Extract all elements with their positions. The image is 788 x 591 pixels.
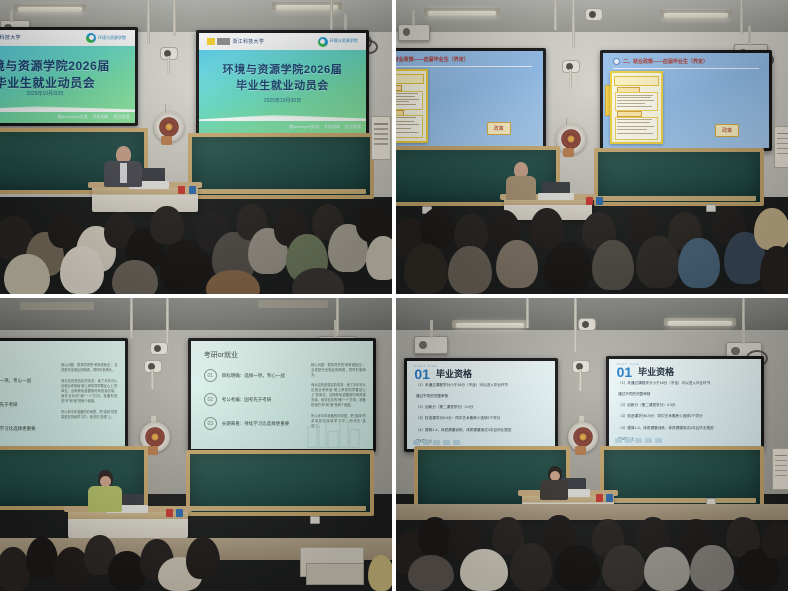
divider [396,66,532,67]
document-line [617,103,646,104]
audience-head [366,236,392,280]
footer-mark [635,438,642,443]
university-name: 浙江科技大学 [0,34,21,41]
document-line [396,99,419,100]
list-item: 03 长期来看：持续学习比选择更重要 [204,417,288,430]
slide-banner: 浙江科技大学 环境与资源学院 [0,30,135,46]
audience [396,202,788,294]
projection-screen-left: PART ONE 01 毕业资格 （1）未通过课程学分小于18分（不含）可以进入… [404,358,558,452]
ceiling-pipe [554,0,557,30]
wall-socket [310,516,320,524]
audience-head [460,549,508,591]
body-line: （2）创新分（第二课堂学分）3.0分 [416,404,546,410]
slide-mint-left: 考研or就业 01 目标明确：选择一项，专心一战 02 考公考编：国考先于考研 … [0,341,125,451]
document-box [615,117,659,140]
body-line: （1）未通过课程学分小于18分（不含）可以进入毕业环节 [416,382,546,388]
mint-bullet-list: 01 目标明确：选择一项，专心一战 02 考公考编：国考先于考研 03 长期来看… [204,369,288,441]
bullet-text: 长期来看：持续学习比选择更重要 [222,421,290,427]
slide-main-title: 环境与资源学院2026届 毕业生就业动员会 [199,63,366,95]
audience-head [554,545,600,591]
notice-poster [772,448,788,490]
bullet-circle-icon: 03 [204,417,217,430]
ceiling-pipe [147,0,150,44]
document-header [614,76,660,86]
footer-mark [423,440,430,445]
college-name: 环境与资源学院 [330,39,358,44]
desk [306,563,364,585]
body-line: （2）创新分（第二课堂学分）3.0分 [618,402,752,408]
slide-footer-tags: 格techreport交流 开拓创新 担当发展 [289,124,361,130]
slide-footer-tags: 格techreport交流 开拓创新 担当发展 [58,114,130,120]
document-line [617,97,652,98]
slide-title-right: 浙江科技大学 环境与资源学院 环境与资源学院2026届 毕业生就业动员会 202… [199,33,366,133]
college-logo: 环境与资源学院 [318,37,358,47]
policy-slide-title: 二、就业政策——应届毕业生（界定） [613,58,708,65]
university-logo: 浙江科技大学 [0,34,21,41]
ceiling-camera [585,8,603,21]
slide-date: 2025年10月30日 [0,90,135,97]
body-line: （1）未通过课程学分小于18分（不含）可以进入毕业环节 [618,380,752,386]
footer-mark [433,440,440,445]
body-line: （3）校选课学分6.0分：同中艺术素养少选修2个学分 [416,415,546,421]
policy-pill-button: 政策 [715,124,739,137]
board-ledge [594,196,756,201]
speaker-body [540,480,568,500]
audience-head [496,240,538,288]
notice-poster [774,126,788,168]
audience-head [448,246,492,294]
footer-mark [625,438,632,443]
document-line [396,96,415,97]
camera-pole [167,56,170,74]
bullet-text: 考公考编：国考先于考研 [0,402,18,408]
slide-date: 2025年10月30日 [199,97,366,104]
document-line [617,129,648,130]
board-ledge [186,506,366,511]
document-line [396,101,409,102]
projector [414,336,448,354]
speaker-body [506,176,536,200]
audience-head [368,555,392,591]
slide-heading: 01 毕业资格 [617,365,675,378]
ceiling-pipe [130,298,133,338]
audience-head [404,244,448,294]
university-name: 浙江科技大学 [232,38,264,45]
document-line [396,124,419,125]
audience-head [544,242,592,294]
document-line [396,117,416,118]
ceiling-camera [578,318,596,331]
slide-policy-left: 二、就业政策——应届毕业生（界定） 应届毕业生界定 [396,51,543,147]
footer-mark [413,440,420,445]
audience-head [690,545,734,591]
slide-title: 毕业资格 [638,365,674,378]
document-line [617,133,654,134]
audience-head [0,547,30,591]
audience [0,529,392,591]
audience-head [420,208,456,248]
fluorescent-tube [668,321,732,326]
document-line [617,95,654,96]
photo-bottom-left: 考研or就业 01 目标明确：选择一项，专心一战 02 考公考编：国考先于考研 … [0,298,392,591]
fan-base [161,136,172,145]
audience-head [762,521,788,559]
camera-pole [151,369,154,389]
college-name: 环境与资源学院 [98,36,126,41]
list-item: 03 长期来看：持续学习比选择更重要 [0,422,37,435]
fluorescent-tube [456,323,524,328]
slide-mint-right: 考研or就业 01 目标明确：选择一项，专心一战 02 考公考编：国考先于考研 … [191,341,373,449]
audience-head [678,238,720,288]
projection-screen-right: 二、就业政策——应届毕业生（界定） 应届毕业生界定 [600,50,772,151]
ceiling-pipe [526,298,529,328]
document-line [396,121,414,122]
slide-title: 毕业资格 [436,367,472,380]
slide-policy-right: 二、就业政策——应届毕业生（界定） 应届毕业生界定 [603,53,769,148]
body-line: （3）校选课学分6.0分：同中艺术素养少选修2个学分 [618,413,752,419]
logo-square-yellow [207,38,215,45]
college-ring-icon [86,33,96,43]
document-image [610,71,664,144]
light-housing [20,302,94,310]
college-ring-icon [318,37,328,47]
footer-mark [453,440,460,445]
slide-number: 01 [414,368,430,381]
projector-mount [748,26,751,46]
bullet-circle-icon: 02 [204,393,217,406]
audience [396,511,788,591]
document-line [617,106,653,107]
ceiling-pipe [740,0,743,34]
body-line: （4）德育1-4，体质健康训练，体质健康测试4次且毕业规范 [416,427,546,433]
slide-grad-left: PART ONE 01 毕业资格 （1）未通过课程学分小于18分（不含）可以进入… [407,361,555,449]
list-item: 01 目标明确：选择一项，专心一战 [0,374,37,387]
camera-pole [569,69,572,89]
fluorescent-tube [428,11,496,16]
cup-blue [176,509,183,517]
projection-screen-left: 二、就业政策——应届毕业生（界定） 应届毕业生界定 [396,48,546,150]
audience-head [592,240,634,290]
projector-mount [412,10,415,26]
cup-red [596,494,603,502]
cup-blue [189,186,196,194]
document-line [396,104,416,105]
cup-blue [606,494,613,502]
mint-bullet-list: 01 目标明确：选择一项，专心一战 02 考公考编：国考先于考研 03 长期来看… [0,374,37,446]
board-ledge [188,189,366,194]
audience-head [60,246,104,294]
cup-red [166,509,173,517]
bullet-circle-icon: 01 [204,369,217,382]
slide-footer-marks [615,438,662,443]
mint-slide-title: 考研or就业 [204,350,238,360]
fluorescent-tube [664,13,728,18]
audience-head [418,517,452,557]
slide-number: 01 [617,366,633,379]
fan-base [563,148,574,157]
cup-red [178,186,185,194]
list-item: 02 考公考编：国考先于考研 [204,393,288,406]
footer-mark [443,440,450,445]
document-box [396,115,423,138]
audience-head [408,555,454,591]
body-line: 通过不同的完整审核 [416,393,546,399]
projector-mount [430,320,433,338]
fan-base [575,446,586,455]
photo-bottom-right: PART ONE 01 毕业资格 （1）未通过课程学分小于18分（不含）可以进入… [396,298,788,591]
projection-screen-right: 考研or就业 01 目标明确：选择一项，专心一战 02 考公考编：国考先于考研 … [188,338,376,452]
divider [613,68,759,69]
document-line [396,132,418,133]
slide-grad-right: PART ONE 01 毕业资格 （1）未通过课程学分小于18分（不含）可以进入… [609,359,761,447]
skyline-decoration [304,412,364,449]
ceiling-camera [150,342,168,355]
document-line [617,122,651,123]
university-logo: 浙江科技大学 [207,38,264,45]
projection-screen-left: 考研or就业 01 目标明确：选择一项，专心一战 02 考公考编：国考先于考研 … [0,338,128,454]
slide-footer-marks [413,440,460,445]
list-item: 02 考公考编：国考先于考研 [0,398,37,411]
bullet-text: 目标明确：选择一项，专心一战 [222,373,285,379]
ceiling-pipe [330,0,333,30]
footer-mark [615,438,622,443]
audience-head [530,208,564,248]
document-line [617,126,655,127]
photo-top-left: 浙江科技大学 环境与资源学院 环境与资源学院2026届 毕业生就业动员会 202… [0,0,392,294]
audience-head [4,254,50,294]
document-line [617,119,653,120]
board-ledge [600,498,756,503]
audience-head [150,206,184,244]
photo-top-right: 二、就业政策——应届毕业生（界定） 应届毕业生界定 [396,0,788,294]
bullet-text: 长期来看：持续学习比选择更重要 [0,426,36,432]
projection-screen-right: 浙江科技大学 环境与资源学院 环境与资源学院2026届 毕业生就业动员会 202… [196,30,369,136]
list-item: 01 目标明确：选择一项，专心一战 [204,369,288,382]
laptop-base [538,193,574,200]
slide-title-left: 浙江科技大学 环境与资源学院 环境与资源学院2026届 毕业生就业动员会 202… [0,30,135,123]
bullet-dot-icon [613,58,620,65]
document-line [396,128,411,129]
college-logo: 环境与资源学院 [86,33,126,43]
light-housing [258,300,328,308]
document-image [396,69,428,143]
audience-head [644,547,690,591]
policy-slide-title: 二、就业政策——应届毕业生（界定） [396,56,469,63]
audience [0,198,392,294]
fan-base [147,446,158,455]
projection-screen-right: PART ONE 01 毕业资格 （1）未通过课程学分小于18分（不含）可以进入… [606,356,764,450]
ceiling-pipe [572,0,575,48]
bullet-text: 考公考编：国考先于考研 [222,397,272,403]
audience-head [186,537,220,579]
ceiling-pipe [173,0,176,36]
ceiling-pipe [574,298,577,352]
footer-mark [645,438,652,443]
slide-heading: 01 毕业资格 [414,367,472,380]
photo-collage: 浙江科技大学 环境与资源学院 环境与资源学院2026届 毕业生就业动员会 202… [0,0,788,591]
projection-screen-left: 浙江科技大学 环境与资源学院 环境与资源学院2026届 毕业生就业动员会 202… [0,27,138,126]
slide-banner: 浙江科技大学 环境与资源学院 [199,33,366,50]
projector-mount [742,326,745,344]
audience-head [754,208,788,250]
audience-head [760,246,788,294]
projector-mount [10,10,13,22]
speaker-shirt [120,163,127,183]
projector [398,24,430,41]
document-line [396,93,418,94]
body-line: 通过不同的完整审核 [618,391,752,397]
notice-poster [371,116,391,160]
fluorescent-tube [276,5,338,10]
fluorescent-tube [18,7,82,12]
footer-mark [655,438,662,443]
bullet-text: 目标明确：选择一项，专心一战 [0,378,31,384]
speaker-body [88,486,122,512]
document-header [396,74,424,84]
policy-pill-button: 政策 [487,122,511,135]
slide-main-title: 环境与资源学院2026届 毕业生就业动员会 [0,58,135,93]
logo-square-grey [217,38,230,45]
mint-paragraphs: 核心问题：很多同学把“考研或就业”，当成是完全相反的两类，同时盯着两头。 而对应… [61,363,117,426]
camera-pole [579,369,582,391]
projector-mount [334,320,337,338]
body-line: （4）德育1-4，体质健康训练，体质健康测试4次且毕业规范 [618,425,752,431]
document-line [617,100,655,101]
